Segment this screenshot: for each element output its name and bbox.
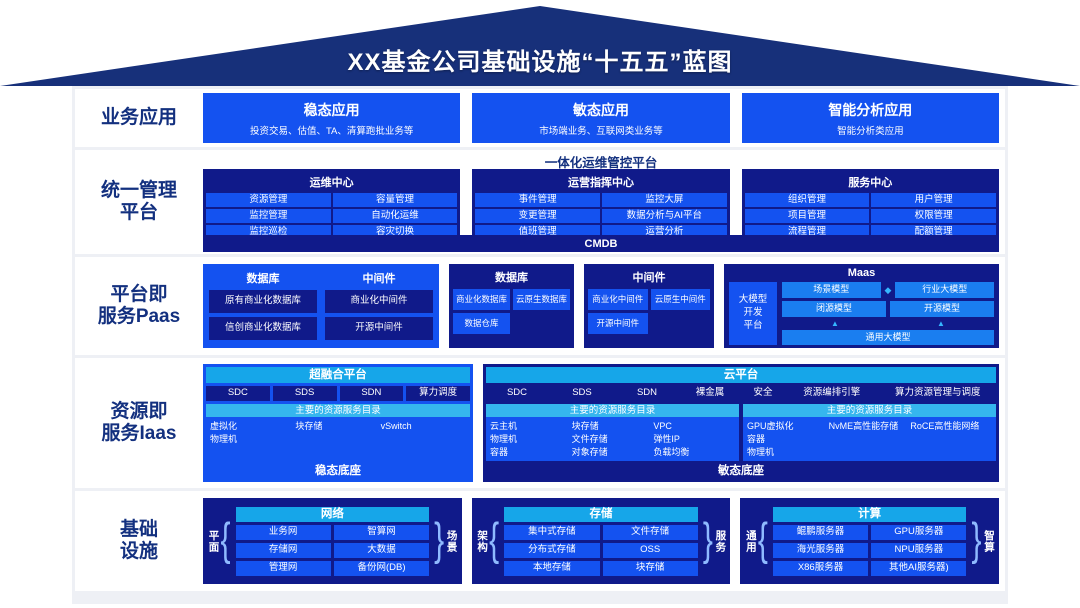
paas-block-header: 中间件 xyxy=(588,268,710,289)
infra-item[interactable]: X86服务器 xyxy=(773,561,868,576)
catalog-item[interactable]: 弹性IP xyxy=(653,433,735,446)
infra-item[interactable]: 业务网 xyxy=(236,525,331,540)
infra-header: 计算 xyxy=(773,507,967,522)
infra-left-label: 通用 xyxy=(745,530,756,553)
arrow-up-icon: ▲ xyxy=(888,320,994,327)
maas-left-line3: 平台 xyxy=(739,320,768,333)
brace-left-icon: { xyxy=(221,519,231,564)
paas-item[interactable]: 云原生中间件 xyxy=(651,289,711,310)
cloud-capability-strip: SDC SDS SDN 裸金属 安全 资源编排引擎 算力资源管理与调度 xyxy=(486,386,996,401)
infra-item[interactable]: 块存储 xyxy=(603,561,698,576)
mgmt-item[interactable]: 容量管理 xyxy=(333,193,458,207)
hci-capability-strip: SDC SDS SDN 算力调度 xyxy=(206,386,470,401)
mgmt-column-ops-center[interactable]: 运维中心 资源管理 容量管理 监控管理 自动化运维 监控巡检 容灾切换 xyxy=(203,169,460,242)
mgmt-item[interactable]: 数据分析与AI平台 xyxy=(602,209,727,223)
app-card-subtitle: 市场端业务、互联网类业务等 xyxy=(539,123,663,137)
catalog-item[interactable]: 块存储 xyxy=(295,420,380,433)
mgmt-item[interactable]: 变更管理 xyxy=(475,209,600,223)
infra-left-label: 架构 xyxy=(477,530,488,553)
row-body-unified-management: 一体化运维管控平台 运维中心 资源管理 容量管理 监控管理 自动化运维 监控巡检… xyxy=(203,150,1005,254)
cloud-service-catalog-general: 主要的资源服务目录 云主机 物理机 容器 块存储 文 xyxy=(486,404,739,461)
app-card-intelligent-analysis[interactable]: 智能分析应用 智能分析类应用 xyxy=(742,93,999,143)
infra-right-label: 服务 xyxy=(715,530,726,553)
catalog-column: GPU虚拟化 容器 物理机 xyxy=(747,420,829,461)
maas-model-dev-platform[interactable]: 大模型 开发 平台 xyxy=(729,282,777,345)
maas-left-line1: 大模型 xyxy=(739,294,768,307)
cmdb-bar[interactable]: CMDB xyxy=(203,235,999,252)
infra-item[interactable]: 备份网(DB) xyxy=(334,561,429,576)
paas-group-header: 中间件 xyxy=(325,268,433,290)
catalog-item[interactable]: 物理机 xyxy=(210,433,295,446)
catalog-item[interactable]: 块存储 xyxy=(572,420,654,433)
infra-right-label: 智算 xyxy=(984,530,995,553)
mgmt-item[interactable]: 自动化运维 xyxy=(333,209,458,223)
infra-item[interactable]: 大数据 xyxy=(334,543,429,558)
infra-item[interactable]: 鲲鹏服务器 xyxy=(773,525,868,540)
catalog-item[interactable]: NvME高性能存储 xyxy=(829,420,911,433)
row-label-line1: 基础 xyxy=(120,519,158,541)
catalog-header: 主要的资源服务目录 xyxy=(206,404,470,417)
mgmt-item[interactable]: 权限管理 xyxy=(871,209,996,223)
row-label-line2: 平台 xyxy=(101,202,177,224)
paas-item[interactable]: 商业化中间件 xyxy=(325,290,433,313)
row-label-line1: 统一管理 xyxy=(101,180,177,202)
mgmt-column-header: 服务中心 xyxy=(745,172,996,193)
row-body-paas: 数据库 原有商业化数据库 信创商业化数据库 中间件 商业化中间件 开源中间件 数… xyxy=(203,257,1005,355)
maas-arrow-row: ▲ ▲ xyxy=(782,320,994,327)
mgmt-item[interactable]: 监控管理 xyxy=(206,209,331,223)
app-card-stable[interactable]: 稳态应用 投资交易、估值、TA、清算跑批业务等 xyxy=(203,93,460,143)
catalog-column: vSwitch xyxy=(381,420,466,461)
catalog-header: 主要的资源服务目录 xyxy=(486,404,739,417)
row-label-unified-management: 统一管理 平台 xyxy=(75,150,203,254)
infra-item[interactable]: 海光服务器 xyxy=(773,543,868,558)
paas-item[interactable]: 开源中间件 xyxy=(325,317,433,340)
cloud-base-label: 敏态底座 xyxy=(486,463,996,479)
maas-item[interactable]: 场景模型 xyxy=(782,282,881,298)
mgmt-item[interactable]: 事件管理 xyxy=(475,193,600,207)
row-label-line2: 服务Paas xyxy=(98,306,180,328)
infra-item[interactable]: 本地存储 xyxy=(504,561,599,576)
row-unified-management: 统一管理 平台 一体化运维管控平台 运维中心 资源管理 容量管理 监控管理 xyxy=(75,150,1005,254)
hci-service-catalog: 主要的资源服务目录 虚拟化 物理机 块存储 xyxy=(206,404,470,461)
cloud-capability[interactable]: SDS xyxy=(551,386,613,401)
app-card-title: 智能分析应用 xyxy=(828,100,912,120)
hci-title: 超融合平台 xyxy=(206,367,470,383)
hci-base-label: 稳态底座 xyxy=(206,463,470,479)
row-label-line2: 服务Iaas xyxy=(102,423,177,445)
infra-item[interactable]: 集中式存储 xyxy=(504,525,599,540)
paas-block-middleware-cloud: 中间件 商业化中间件 云原生中间件 开源中间件 xyxy=(584,264,714,348)
cloud-service-catalog-ai: 主要的资源服务目录 GPU虚拟化 容器 物理机 NvME高性能存储 xyxy=(743,404,996,461)
layer-frame: 业务应用 稳态应用 投资交易、估值、TA、清算跑批业务等 敏态应用 市场端业务、… xyxy=(72,86,1008,604)
maas-item[interactable]: 闭源模型 xyxy=(782,301,886,317)
cloud-capability[interactable]: 裸金属 xyxy=(681,386,739,401)
mgmt-item[interactable]: 用户管理 xyxy=(871,193,996,207)
arrow-right-icon: ◆ xyxy=(885,286,892,295)
paas-block-maas: Maas 大模型 开发 平台 场景模型 xyxy=(724,264,999,348)
paas-item[interactable]: 原有商业化数据库 xyxy=(209,290,317,313)
catalog-header: 主要的资源服务目录 xyxy=(743,404,996,417)
hci-capability[interactable]: SDN xyxy=(340,386,404,401)
roof-banner: XX基金公司基础设施“十五五”蓝图 xyxy=(0,0,1080,86)
paas-item[interactable]: 商业化中间件 xyxy=(588,289,648,310)
mgmt-item[interactable]: 资源管理 xyxy=(206,193,331,207)
row-label-business-application: 业务应用 xyxy=(75,89,203,147)
blueprint-page: XX基金公司基础设施“十五五”蓝图 业务应用 稳态应用 投资交易、估值、TA、清… xyxy=(0,0,1080,608)
maas-line-source: 闭源模型 开源模型 xyxy=(782,301,994,317)
catalog-item[interactable]: 物理机 xyxy=(490,433,572,446)
maas-item[interactable]: 开源模型 xyxy=(890,301,994,317)
infra-header: 网络 xyxy=(236,507,430,522)
catalog-item[interactable]: 负载均衡 xyxy=(653,446,735,459)
brace-left-icon: { xyxy=(489,519,499,564)
paas-block-database-cloud: 数据库 商业化数据库 云原生数据库 数据仓库 xyxy=(449,264,574,348)
row-body-business-application: 稳态应用 投资交易、估值、TA、清算跑批业务等 敏态应用 市场端业务、互联网类业… xyxy=(203,89,1005,147)
row-label-paas: 平台即 服务Paas xyxy=(75,257,203,355)
catalog-item[interactable]: VPC xyxy=(653,420,735,433)
brace-right-icon: } xyxy=(434,519,444,564)
app-card-subtitle: 投资交易、估值、TA、清算跑批业务等 xyxy=(250,123,413,137)
mgmt-item[interactable]: 监控大屏 xyxy=(602,193,727,207)
mgmt-column-header: 运维中心 xyxy=(206,172,457,193)
paas-traditional-block: 数据库 原有商业化数据库 信创商业化数据库 中间件 商业化中间件 开源中间件 xyxy=(203,264,439,348)
catalog-item[interactable]: 容器 xyxy=(747,433,829,446)
infra-card-network: 平面 { 网络 业务网 智算网 存储网 大数据 管理网 备份网(DB) xyxy=(203,498,462,584)
paas-item-empty xyxy=(651,313,711,334)
row-business-application: 业务应用 稳态应用 投资交易、估值、TA、清算跑批业务等 敏态应用 市场端业务、… xyxy=(75,89,1005,147)
mgmt-item[interactable]: 组织管理 xyxy=(745,193,870,207)
catalog-column: NvME高性能存储 xyxy=(829,420,911,461)
maas-line-scene: 场景模型 ◆ 行业大模型 xyxy=(782,282,994,298)
paas-item[interactable]: 开源中间件 xyxy=(588,313,648,334)
infra-item[interactable]: 分布式存储 xyxy=(504,543,599,558)
row-paas: 平台即 服务Paas 数据库 原有商业化数据库 信创商业化数据库 中间件 xyxy=(75,257,1005,355)
app-card-subtitle: 智能分析类应用 xyxy=(837,123,904,137)
infra-item[interactable]: 管理网 xyxy=(236,561,331,576)
catalog-item[interactable]: 对象存储 xyxy=(572,446,654,459)
row-label-line1: 平台即 xyxy=(98,284,180,306)
row-label-line2: 设施 xyxy=(120,541,158,563)
paas-item[interactable]: 信创商业化数据库 xyxy=(209,317,317,340)
paas-item[interactable]: 数据仓库 xyxy=(453,313,510,334)
row-infrastructure: 基础 设施 平面 { 网络 业务网 智算网 存储网 xyxy=(75,491,1005,591)
cloud-title: 云平台 xyxy=(486,367,996,383)
hci-capability[interactable]: SDC xyxy=(206,386,270,401)
infra-item[interactable]: NPU服务器 xyxy=(871,543,966,558)
hci-capability[interactable]: SDS xyxy=(273,386,337,401)
catalog-item[interactable]: 文件存储 xyxy=(572,433,654,446)
catalog-item[interactable]: 虚拟化 xyxy=(210,420,295,433)
cloud-capability[interactable]: 安全 xyxy=(742,386,784,401)
catalog-column: RoCE高性能网络 xyxy=(910,420,992,461)
catalog-column: 虚拟化 物理机 xyxy=(210,420,295,461)
paas-item[interactable]: 商业化数据库 xyxy=(453,289,510,310)
iaas-cloud-platform: 云平台 SDC SDS SDN 裸金属 安全 资源编排引擎 算力资源管理与调度 xyxy=(483,364,999,482)
paas-group-database-traditional: 数据库 原有商业化数据库 信创商业化数据库 xyxy=(209,268,317,344)
brace-right-icon: } xyxy=(703,519,713,564)
mgmt-item[interactable]: 项目管理 xyxy=(745,209,870,223)
catalog-item[interactable]: 云主机 xyxy=(490,420,572,433)
maas-general-model[interactable]: 通用大模型 xyxy=(782,330,994,345)
paas-group-header: 数据库 xyxy=(209,268,317,290)
mgmt-column-operation-command-center[interactable]: 运营指挥中心 事件管理 监控大屏 变更管理 数据分析与AI平台 值班管理 运营分… xyxy=(472,169,729,242)
infra-header: 存储 xyxy=(504,507,698,522)
cloud-capability[interactable]: 算力资源管理与调度 xyxy=(880,386,996,401)
cloud-capability[interactable]: 资源编排引擎 xyxy=(787,386,877,401)
maas-model-stack: 场景模型 ◆ 行业大模型 闭源模型 开源模型 ▲ xyxy=(782,282,994,345)
catalog-column: 云主机 物理机 容器 xyxy=(490,420,572,461)
maas-header: Maas xyxy=(729,267,994,282)
cloud-capability[interactable]: SDC xyxy=(486,386,548,401)
infra-item[interactable]: OSS xyxy=(603,543,698,558)
row-label-line1: 资源即 xyxy=(102,401,177,423)
catalog-column: 块存储 文件存储 对象存储 xyxy=(572,420,654,461)
infra-item[interactable]: 文件存储 xyxy=(603,525,698,540)
row-body-iaas: 超融合平台 SDC SDS SDN 算力调度 主要的资源服务目录 xyxy=(203,358,1005,488)
infra-item[interactable]: 智算网 xyxy=(334,525,429,540)
paas-item[interactable]: 云原生数据库 xyxy=(513,289,570,310)
page-title: XX基金公司基础设施“十五五”蓝图 xyxy=(0,42,1080,77)
brace-left-icon: { xyxy=(758,519,768,564)
arrow-up-icon: ▲ xyxy=(782,320,888,327)
mgmt-column-service-center[interactable]: 服务中心 组织管理 用户管理 项目管理 权限管理 流程管理 配额管理 xyxy=(742,169,999,242)
app-card-title: 稳态应用 xyxy=(304,100,360,120)
maas-item[interactable]: 行业大模型 xyxy=(895,282,994,298)
row-label-iaas: 资源即 服务Iaas xyxy=(75,358,203,488)
iaas-hyperconverged-platform: 超融合平台 SDC SDS SDN 算力调度 主要的资源服务目录 xyxy=(203,364,473,482)
hci-capability[interactable]: 算力调度 xyxy=(406,386,470,401)
row-iaas: 资源即 服务Iaas 超融合平台 SDC SDS SDN 算力调度 xyxy=(75,358,1005,488)
infra-right-label: 场景 xyxy=(446,530,457,553)
infra-item[interactable]: 其他AI服务器) xyxy=(871,561,966,576)
app-card-agile[interactable]: 敏态应用 市场端业务、互联网类业务等 xyxy=(472,93,729,143)
row-body-infrastructure: 平面 { 网络 业务网 智算网 存储网 大数据 管理网 备份网(DB) xyxy=(203,491,1005,591)
paas-block-header: 数据库 xyxy=(453,268,570,289)
cloud-capability[interactable]: SDN xyxy=(616,386,678,401)
catalog-item[interactable]: RoCE高性能网络 xyxy=(910,420,992,433)
catalog-column: VPC 弹性IP 负载均衡 xyxy=(653,420,735,461)
mgmt-column-header: 运营指挥中心 xyxy=(475,172,726,193)
catalog-item[interactable]: 容器 xyxy=(490,446,572,459)
catalog-column: 块存储 xyxy=(295,420,380,461)
paas-group-middleware-traditional: 中间件 商业化中间件 开源中间件 xyxy=(325,268,433,344)
infra-card-storage: 架构 { 存储 集中式存储 文件存储 分布式存储 OSS 本地存储 块存储 xyxy=(472,498,731,584)
paas-item-empty xyxy=(513,313,570,334)
catalog-item[interactable]: GPU虚拟化 xyxy=(747,420,829,433)
maas-left-line2: 开发 xyxy=(739,307,768,320)
row-label-infrastructure: 基础 设施 xyxy=(75,491,203,591)
app-card-title: 敏态应用 xyxy=(573,100,629,120)
infra-left-label: 平面 xyxy=(208,530,219,553)
brace-right-icon: } xyxy=(971,519,981,564)
infra-item[interactable]: 存储网 xyxy=(236,543,331,558)
infra-item[interactable]: GPU服务器 xyxy=(871,525,966,540)
catalog-item[interactable]: vSwitch xyxy=(381,420,466,433)
infra-card-compute: 通用 { 计算 鲲鹏服务器 GPU服务器 海光服务器 NPU服务器 X86服务器… xyxy=(740,498,999,584)
catalog-item[interactable]: 物理机 xyxy=(747,446,829,459)
